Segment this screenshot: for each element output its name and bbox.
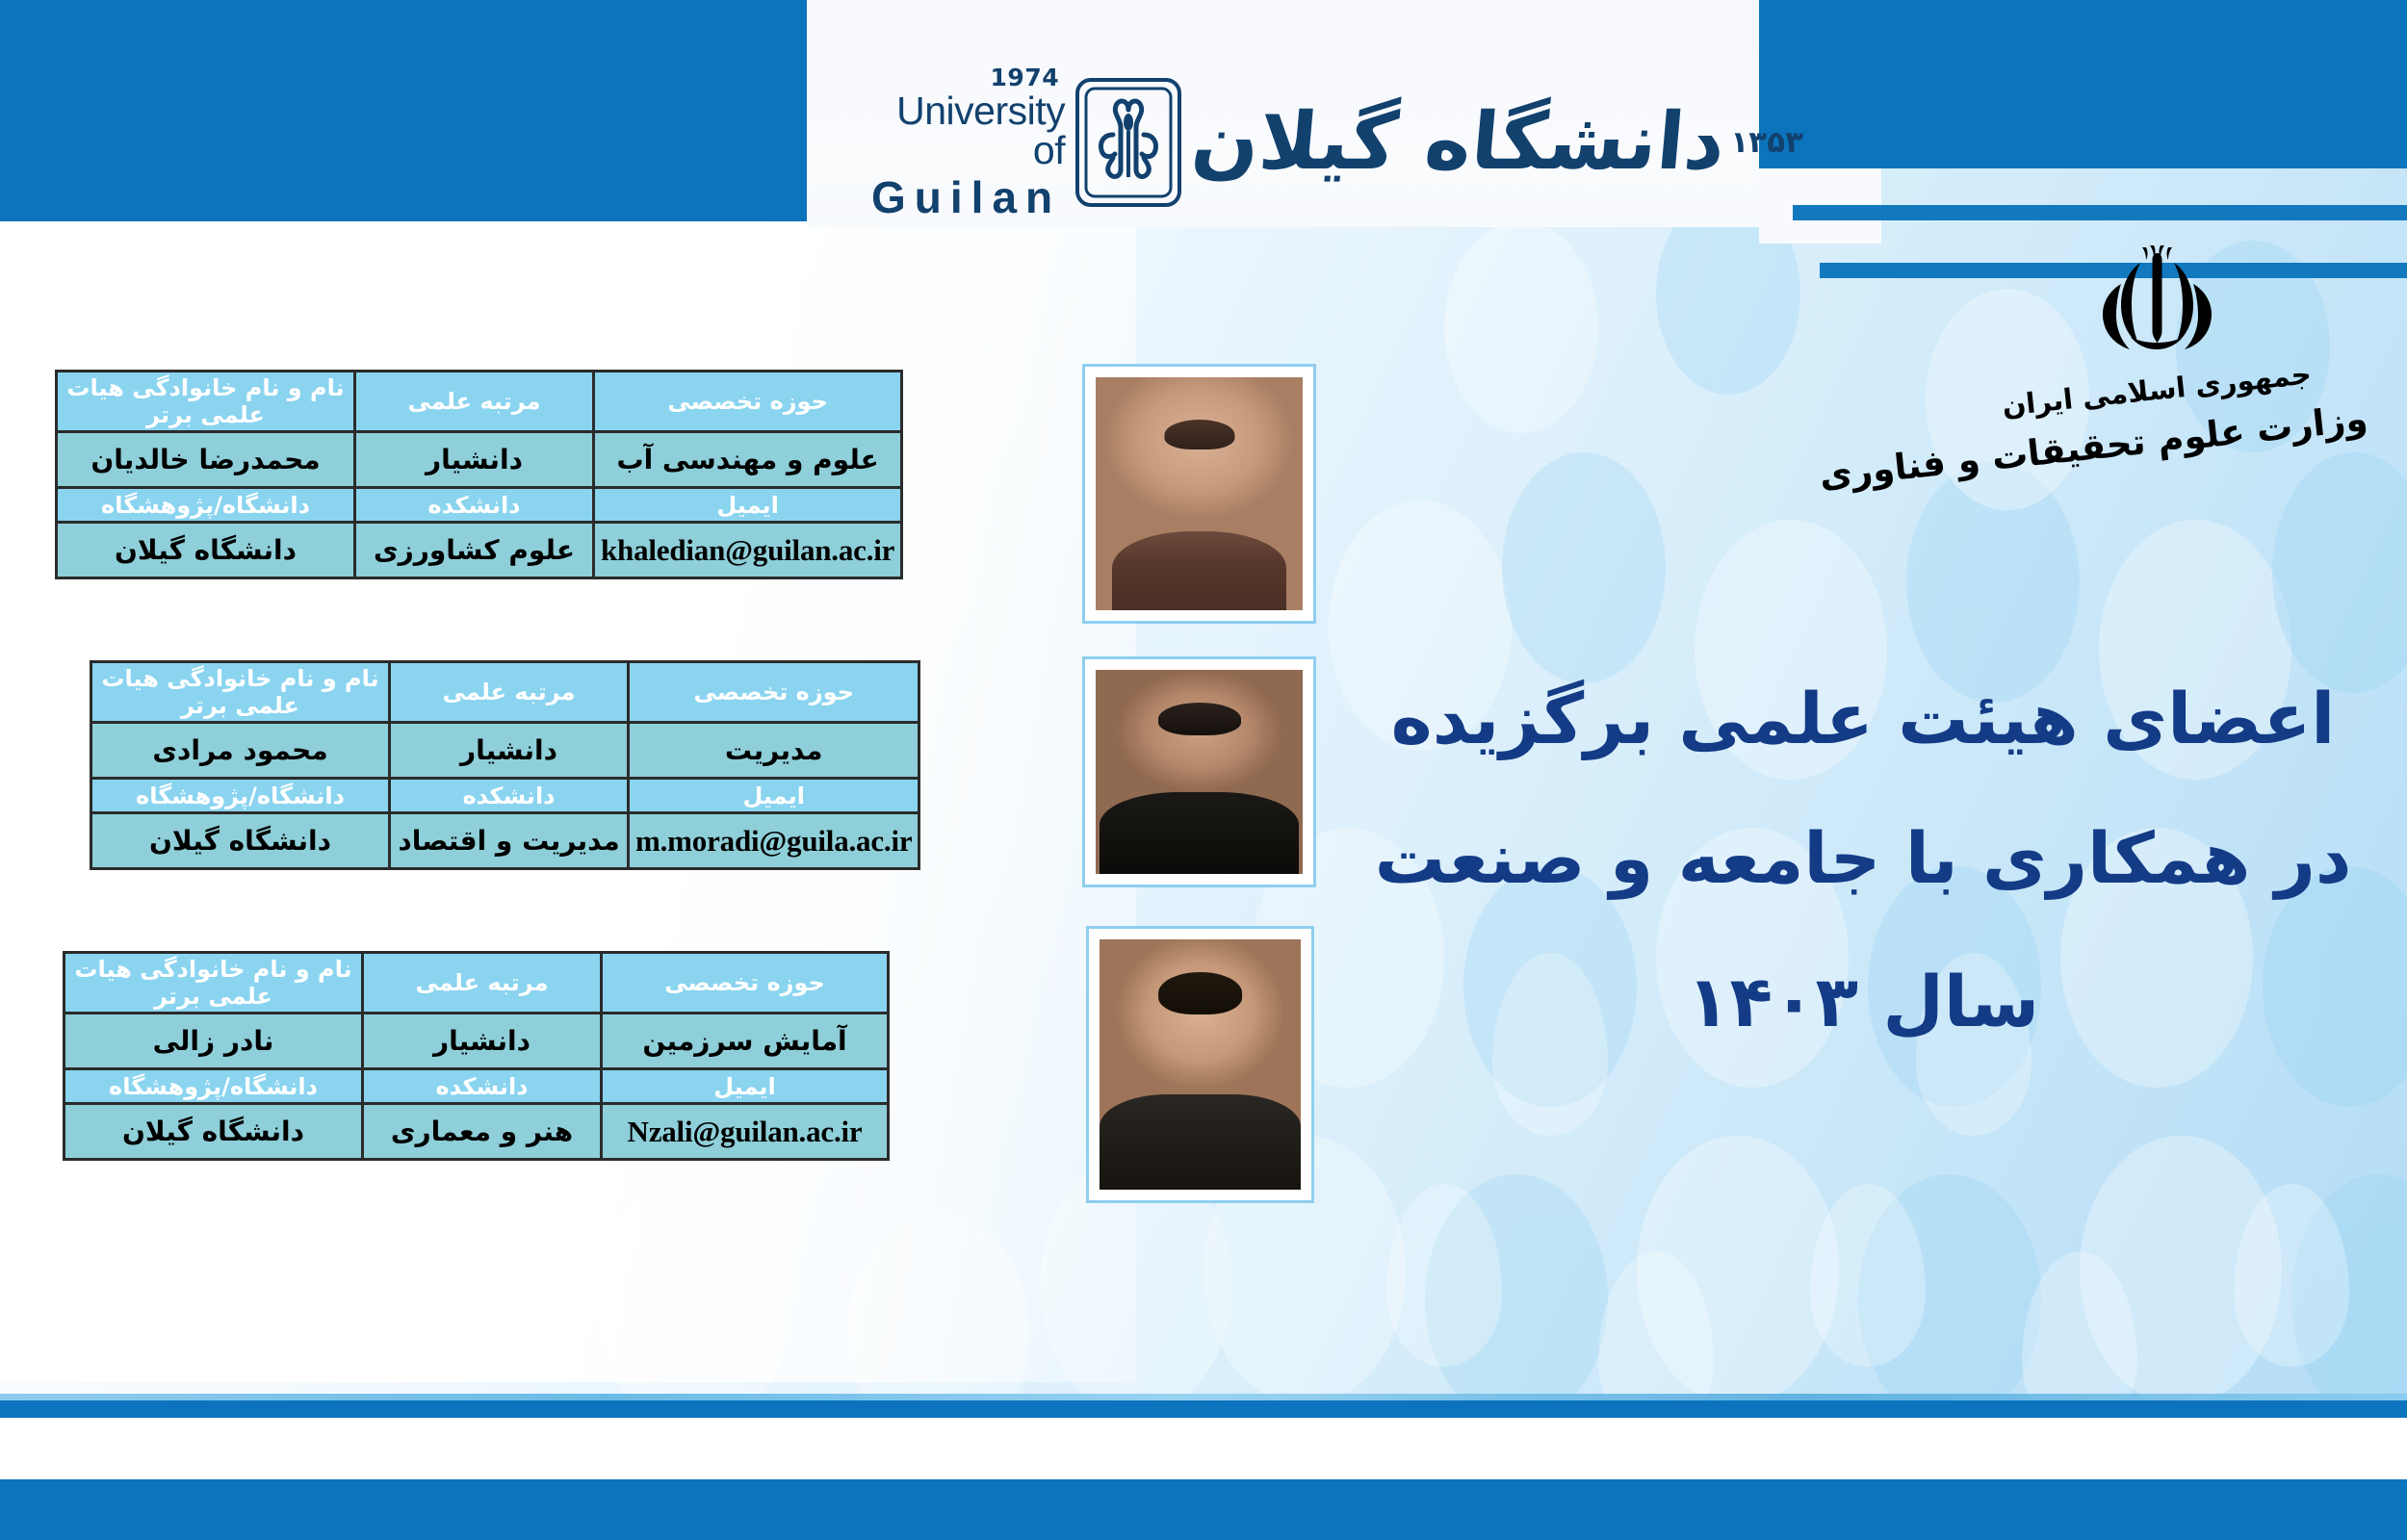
iran-national-emblem-icon (2083, 245, 2232, 366)
table-row: علوم و مهندسی آب دانشیار محمدرضا خالدیان (57, 432, 902, 488)
main-title-line-2: در همکاری با جامعه و صنعت (1367, 804, 2359, 916)
value-email[interactable]: Nzali@guilan.ac.ir (602, 1104, 889, 1160)
person-table-2: حوزه تخصصی مرتبه علمی نام و نام خانوادگی… (90, 660, 920, 870)
value-field: علوم و مهندسی آب (594, 432, 902, 488)
table-row: حوزه تخصصی مرتبه علمی نام و نام خانوادگی… (91, 662, 919, 723)
header-rank: مرتبه علمی (363, 953, 602, 1014)
university-of-guilan-logo: 1974 University of Guilan ۱۳۵۳ دانشگاه گ… (871, 75, 1680, 210)
ministry-emblem-block: جمهوری اسلامی ایران وزارت علوم تحقیقات و… (1945, 245, 2368, 461)
header-rank: مرتبه علمی (355, 372, 594, 432)
value-institution: دانشگاه گیلان (91, 813, 390, 869)
university-logo-persian-text: ۱۳۵۳ دانشگاه گیلان (1192, 103, 1815, 182)
header-name: نام و نام خانوادگی هیات علمی برتر (65, 953, 363, 1014)
value-field: آمایش سرزمین (602, 1014, 889, 1069)
value-rank: دانشیار (363, 1014, 602, 1069)
value-field: مدیریت (629, 723, 919, 779)
table-row: khaledian@guilan.ac.ir علوم کشاورزی دانش… (57, 523, 902, 578)
header-email: ایمیل (602, 1069, 889, 1104)
university-name-persian: دانشگاه گیلان (1189, 103, 1728, 182)
university-logo-latin-text: 1974 University of Guilan (871, 65, 1065, 219)
guilan-emblem-icon (1074, 77, 1182, 208)
value-name: محمدرضا خالدیان (57, 432, 355, 488)
value-faculty: هنر و معماری (363, 1104, 602, 1160)
header-faculty: دانشکده (355, 488, 594, 523)
table-row: ایمیل دانشکده دانشگاه/پژوهشگاه (91, 779, 919, 813)
table-row: حوزه تخصصی مرتبه علمی نام و نام خانوادگی… (57, 372, 902, 432)
header-institution: دانشگاه/پژوهشگاه (65, 1069, 363, 1104)
photo-frame-1 (1082, 364, 1316, 624)
header-institution: دانشگاه/پژوهشگاه (57, 488, 355, 523)
header-faculty: دانشکده (363, 1069, 602, 1104)
header-field: حوزه تخصصی (594, 372, 902, 432)
portrait-zali (1100, 939, 1301, 1190)
main-title-line-1: اعضای هیئت علمی برگزیده (1367, 664, 2359, 777)
header-faculty: دانشکده (390, 779, 629, 813)
photo-frame-2 (1082, 656, 1316, 887)
bottom-white-gap (0, 1418, 2407, 1479)
header-rank: مرتبه علمی (390, 662, 629, 723)
table-row: m.moradi@guila.ac.ir مدیریت و اقتصاد دان… (91, 813, 919, 869)
collar-shape (1173, 559, 1227, 610)
university-logo-line2: Guilan (871, 175, 1065, 219)
value-rank: دانشیار (390, 723, 629, 779)
person-table-3: حوزه تخصصی مرتبه علمی نام و نام خانوادگی… (63, 951, 890, 1161)
value-institution: دانشگاه گیلان (65, 1104, 363, 1160)
top-left-blue-block (0, 0, 807, 221)
header-email: ایمیل (594, 488, 902, 523)
header-name: نام و نام خانوادگی هیات علمی برتر (91, 662, 390, 723)
portrait-khaledian (1096, 377, 1303, 610)
person-table-1: حوزه تخصصی مرتبه علمی نام و نام خانوادگی… (55, 370, 903, 579)
value-name: نادر زالی (65, 1014, 363, 1069)
poster-canvas: 1974 University of Guilan ۱۳۵۳ دانشگاه گ… (0, 0, 2407, 1540)
table-row: آمایش سرزمین دانشیار نادر زالی (65, 1014, 889, 1069)
header-institution: دانشگاه/پژوهشگاه (91, 779, 390, 813)
value-faculty: علوم کشاورزی (355, 523, 594, 578)
header-name: نام و نام خانوادگی هیات علمی برتر (57, 372, 355, 432)
photo-frame-3 (1086, 926, 1314, 1203)
top-right-blue-block (1759, 0, 2407, 168)
table-row: ایمیل دانشکده دانشگاه/پژوهشگاه (65, 1069, 889, 1104)
table-row: ایمیل دانشکده دانشگاه/پژوهشگاه (57, 488, 902, 523)
table-row: Nzali@guilan.ac.ir هنر و معماری دانشگاه … (65, 1104, 889, 1160)
value-rank: دانشیار (355, 432, 594, 488)
person-card-2: حوزه تخصصی مرتبه علمی نام و نام خانوادگی… (90, 660, 920, 870)
decorative-stripe-1 (1793, 205, 2407, 220)
value-institution: دانشگاه گیلان (57, 523, 355, 578)
header-field: حوزه تخصصی (629, 662, 919, 723)
header-field: حوزه تخصصی (602, 953, 889, 1014)
table-row: مدیریت دانشیار محمود مرادی (91, 723, 919, 779)
value-faculty: مدیریت و اقتصاد (390, 813, 629, 869)
poster-main-title: اعضای هیئت علمی برگزیده در همکاری با جام… (1367, 664, 2359, 1059)
table-row: حوزه تخصصی مرتبه علمی نام و نام خانوادگی… (65, 953, 889, 1014)
person-card-1: حوزه تخصصی مرتبه علمی نام و نام خانوادگی… (55, 370, 903, 579)
university-logo-line1: University of (871, 91, 1065, 170)
main-title-line-3: سال ۱۴۰۳ (1367, 947, 2359, 1060)
value-name: محمود مرادی (91, 723, 390, 779)
value-email[interactable]: khaledian@guilan.ac.ir (594, 523, 902, 578)
person-card-3: حوزه تخصصی مرتبه علمی نام و نام خانوادگی… (63, 951, 890, 1161)
value-email[interactable]: m.moradi@guila.ac.ir (629, 813, 919, 869)
portrait-moradi (1096, 670, 1303, 874)
logo-panel-top (807, 0, 1759, 54)
header-email: ایمیل (629, 779, 919, 813)
university-founding-year-latin: 1974 (871, 65, 1065, 90)
university-founding-year-persian: ۱۳۵۳ (1730, 125, 1803, 160)
bottom-thick-blue-bar (0, 1479, 2407, 1540)
bottom-thin-blue-bar (0, 1400, 2407, 1418)
